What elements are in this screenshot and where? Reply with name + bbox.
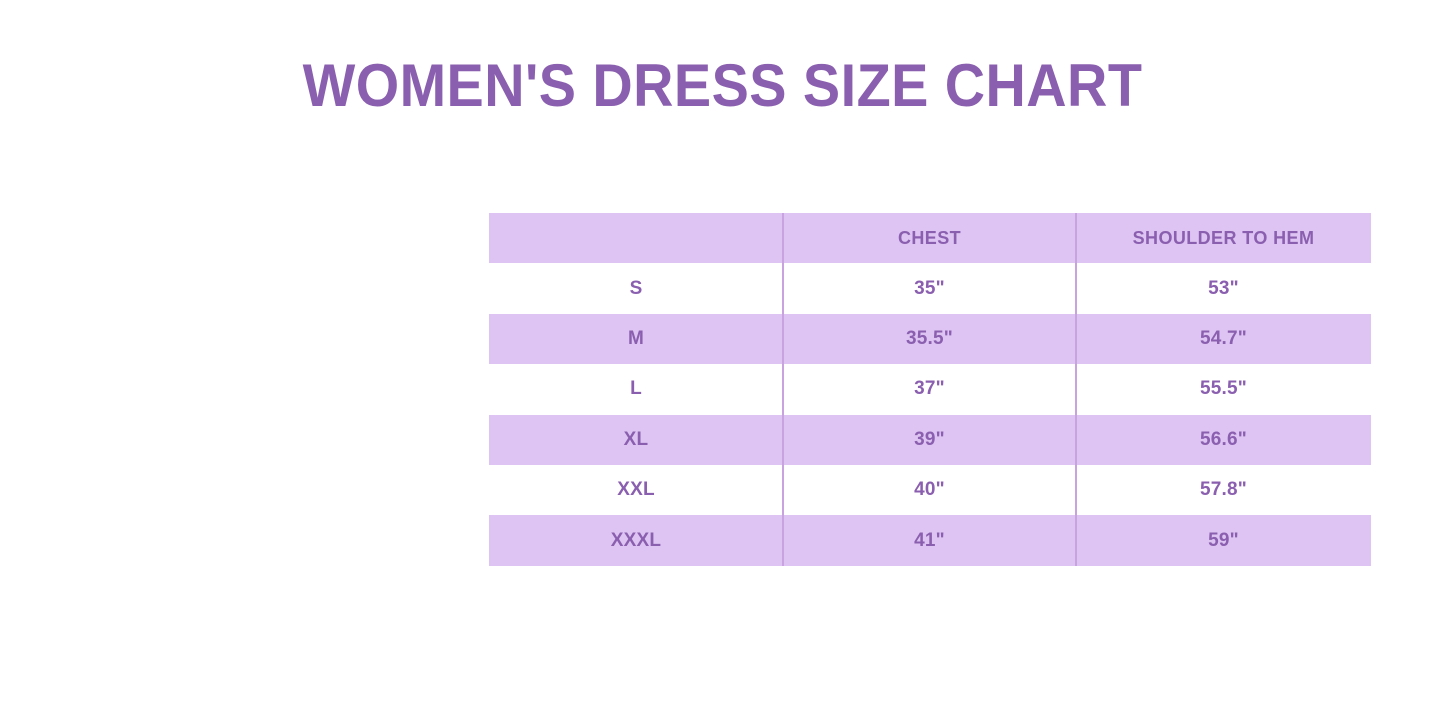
cell-chest: 35" <box>783 263 1076 313</box>
cell-shoulder-to-hem: 57.8" <box>1076 465 1371 515</box>
cell-shoulder-to-hem: 53" <box>1076 263 1371 313</box>
table-row: XXL 40" 57.8" <box>489 465 1371 515</box>
cell-size: L <box>489 364 783 414</box>
cell-chest: 37" <box>783 364 1076 414</box>
cell-shoulder-to-hem: 54.7" <box>1076 314 1371 364</box>
cell-size: S <box>489 263 783 313</box>
table-row: XXXL 41" 59" <box>489 515 1371 565</box>
cell-chest: 39" <box>783 415 1076 465</box>
table-header: CHEST SHOULDER TO HEM <box>489 213 1371 263</box>
table-body: S 35" 53" M 35.5" 54.7" L 37" 55.5" XL 3… <box>489 263 1371 565</box>
page-title-container: WOMEN'S DRESS SIZE CHART <box>0 56 1445 116</box>
table-row: S 35" 53" <box>489 263 1371 313</box>
table-row: L 37" 55.5" <box>489 364 1371 414</box>
table-header-row: CHEST SHOULDER TO HEM <box>489 213 1371 263</box>
page-title: WOMEN'S DRESS SIZE CHART <box>303 56 1143 116</box>
cell-size: XL <box>489 415 783 465</box>
size-chart-table-container: CHEST SHOULDER TO HEM S 35" 53" M 35.5" … <box>489 213 1371 566</box>
cell-chest: 41" <box>783 515 1076 565</box>
column-header-size <box>489 213 783 263</box>
cell-shoulder-to-hem: 55.5" <box>1076 364 1371 414</box>
table-row: M 35.5" 54.7" <box>489 314 1371 364</box>
size-chart-table: CHEST SHOULDER TO HEM S 35" 53" M 35.5" … <box>489 213 1371 566</box>
cell-size: M <box>489 314 783 364</box>
cell-shoulder-to-hem: 56.6" <box>1076 415 1371 465</box>
column-header-chest: CHEST <box>783 213 1076 263</box>
cell-shoulder-to-hem: 59" <box>1076 515 1371 565</box>
cell-size: XXXL <box>489 515 783 565</box>
table-row: XL 39" 56.6" <box>489 415 1371 465</box>
cell-size: XXL <box>489 465 783 515</box>
column-header-shoulder-to-hem: SHOULDER TO HEM <box>1076 213 1371 263</box>
cell-chest: 40" <box>783 465 1076 515</box>
cell-chest: 35.5" <box>783 314 1076 364</box>
